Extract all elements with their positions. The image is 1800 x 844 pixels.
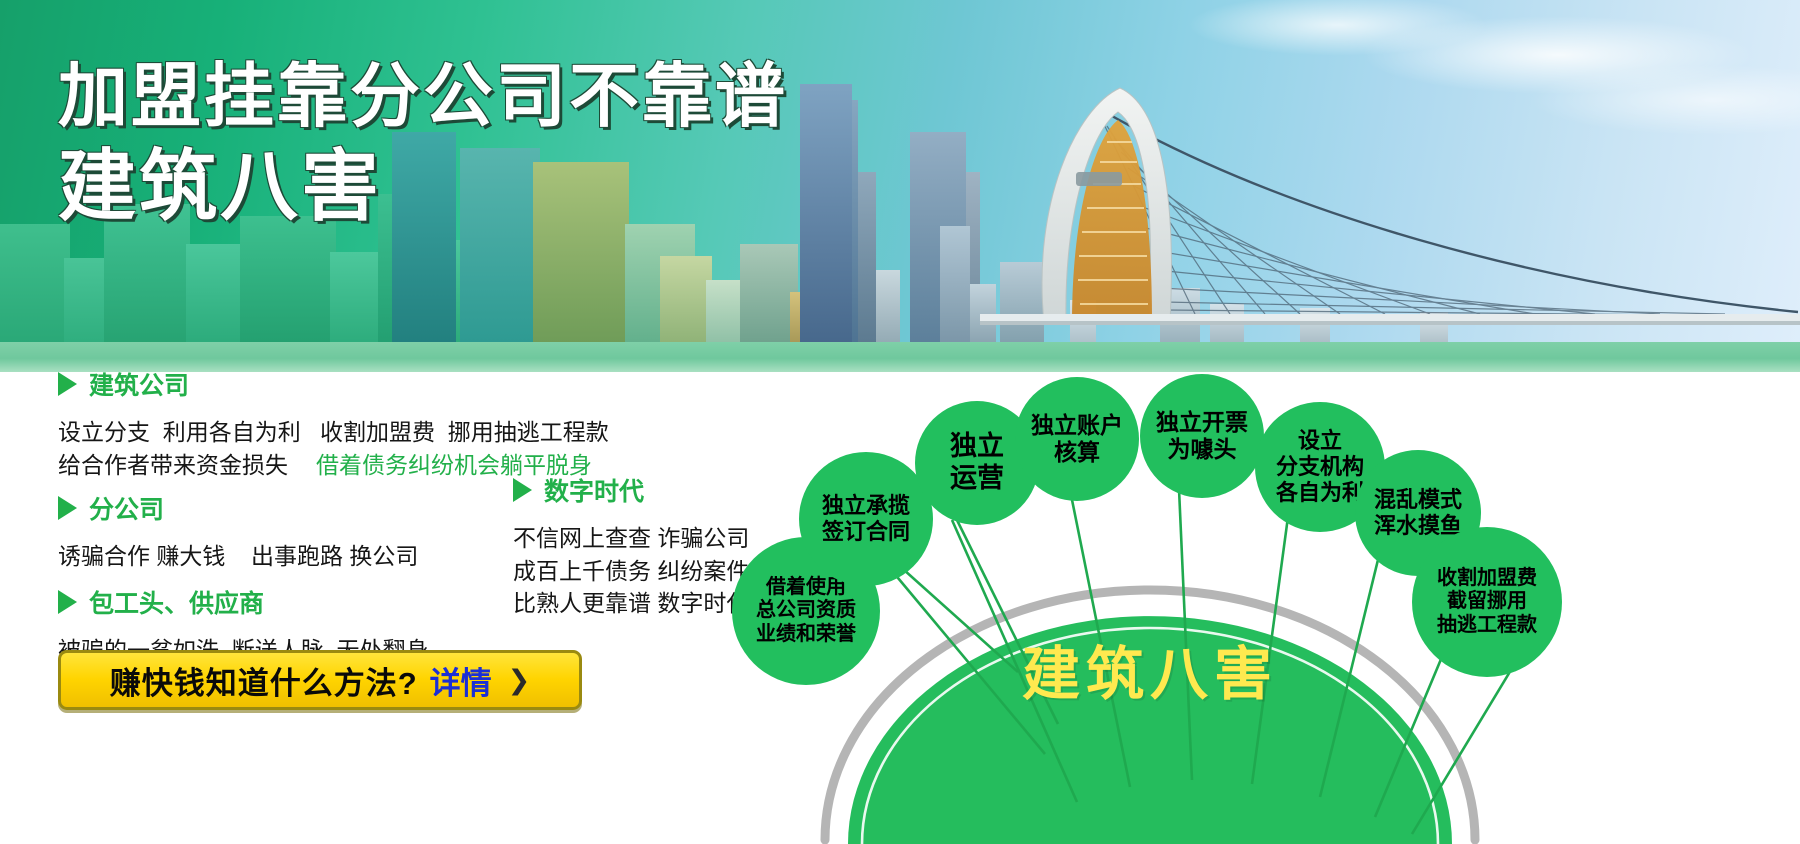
section-heading: 建筑公司 [58,366,609,402]
bubble-line: 截留挪用 [1447,590,1527,612]
bubble-line: 借着使用 [766,576,846,598]
section-title: 包工头、供应商 [89,584,264,620]
hero-title: 加盟挂靠分公司不靠谱 建筑八害 [58,60,788,227]
bubble-item[interactable]: 收割加盟费 截留挪用 抽逃工程款 [1412,527,1562,677]
bubble-line: 收割加盟费 [1437,567,1537,589]
bubble-line: 核算 [1054,439,1100,465]
section-body: 诱骗合作 赚大钱 出事跑路 换公司 [58,540,418,573]
section-heading: 数字时代 [513,472,749,508]
bubble-line: 签订合同 [822,519,910,544]
bubble-line: 设立 [1298,428,1342,453]
poster-root: 加盟挂靠分公司不靠谱 建筑八害 建筑公司 设立分支 利用各自为利 收割加盟费 挪… [0,0,1800,844]
section-heading: 分公司 [58,490,418,526]
body-line: 成百上千债务 纠纷案件 [513,555,749,588]
bridge-illustration [980,64,1800,344]
section-digital-era: 数字时代 不信网上查查 诈骗公司 成百上千债务 纠纷案件 比熟人更靠谱 数字时代 [513,472,749,620]
bubble-line: 为噱头 [1168,436,1237,462]
section-title: 建筑公司 [89,366,189,402]
bubble-line: 独立 [950,431,1004,461]
bubble-item[interactable]: 独立开票 为噱头 [1140,374,1264,498]
triangle-bullet-icon [513,478,532,502]
section-title: 数字时代 [544,472,644,508]
bubble-line: 混乱模式 [1374,487,1462,512]
body-line: 设立分支 利用各自为利 收割加盟费 挪用抽逃工程款 [58,416,609,449]
chevron-right-icon: ❯ [508,665,531,696]
content-area: 建筑公司 设立分支 利用各自为利 收割加盟费 挪用抽逃工程款 给合作者带来资金损… [0,372,1800,844]
bubble-line: 业绩和荣誉 [756,623,856,645]
bubble-line: 分支机构 [1276,454,1364,479]
bubble-line: 独立开票 [1156,409,1248,435]
bubble-line: 抽逃工程款 [1437,614,1537,636]
section-construction-company: 建筑公司 设立分支 利用各自为利 收割加盟费 挪用抽逃工程款 给合作者带来资金损… [58,366,609,481]
hero-title-line1: 加盟挂靠分公司不靠谱 [58,60,788,134]
bubble-diagram: 借着使用 总公司资质 业绩和荣誉 独立承揽 签订合同 独立 运营 独立账户 核算… [800,372,1800,844]
bubble-item[interactable]: 独立账户 核算 [1015,377,1139,501]
hero-banner: 加盟挂靠分公司不靠谱 建筑八害 [0,0,1800,372]
bubble-item[interactable]: 独立承揽 签订合同 [799,452,933,586]
triangle-bullet-icon [58,496,77,520]
cta-detail-link[interactable]: 详情 [430,658,492,703]
body-line: 诱骗合作 赚大钱 出事跑路 换公司 [58,540,418,573]
dome-center-label: 建筑八害 [980,627,1320,711]
cta-button[interactable]: 赚快钱知道什么方法? 详情 ❯ [58,650,582,710]
bubble-line: 独立账户 [1031,412,1123,438]
body-line: 不信网上查查 诈骗公司 [513,522,749,555]
section-heading: 包工头、供应商 [58,584,429,620]
cta-question-label: 赚快钱知道什么方法? [110,658,418,703]
triangle-bullet-icon [58,590,77,614]
bubble-line: 运营 [950,463,1004,493]
section-body: 不信网上查查 诈骗公司 成百上千债务 纠纷案件 比熟人更靠谱 数字时代 [513,522,749,620]
body-line: 比熟人更靠谱 数字时代 [513,587,749,620]
hero-title-line2: 建筑八害 [58,146,788,228]
bubble-line: 浑水摸鱼 [1374,513,1462,538]
bubble-line: 各自为利 [1276,480,1364,505]
body-text: 给合作者带来资金损失 [58,452,288,478]
triangle-bullet-icon [58,372,77,396]
bubble-line: 总公司资质 [756,599,856,621]
bubble-line: 独立承揽 [822,493,910,518]
section-branch-company: 分公司 诱骗合作 赚大钱 出事跑路 换公司 [58,490,418,573]
section-title: 分公司 [89,490,164,526]
